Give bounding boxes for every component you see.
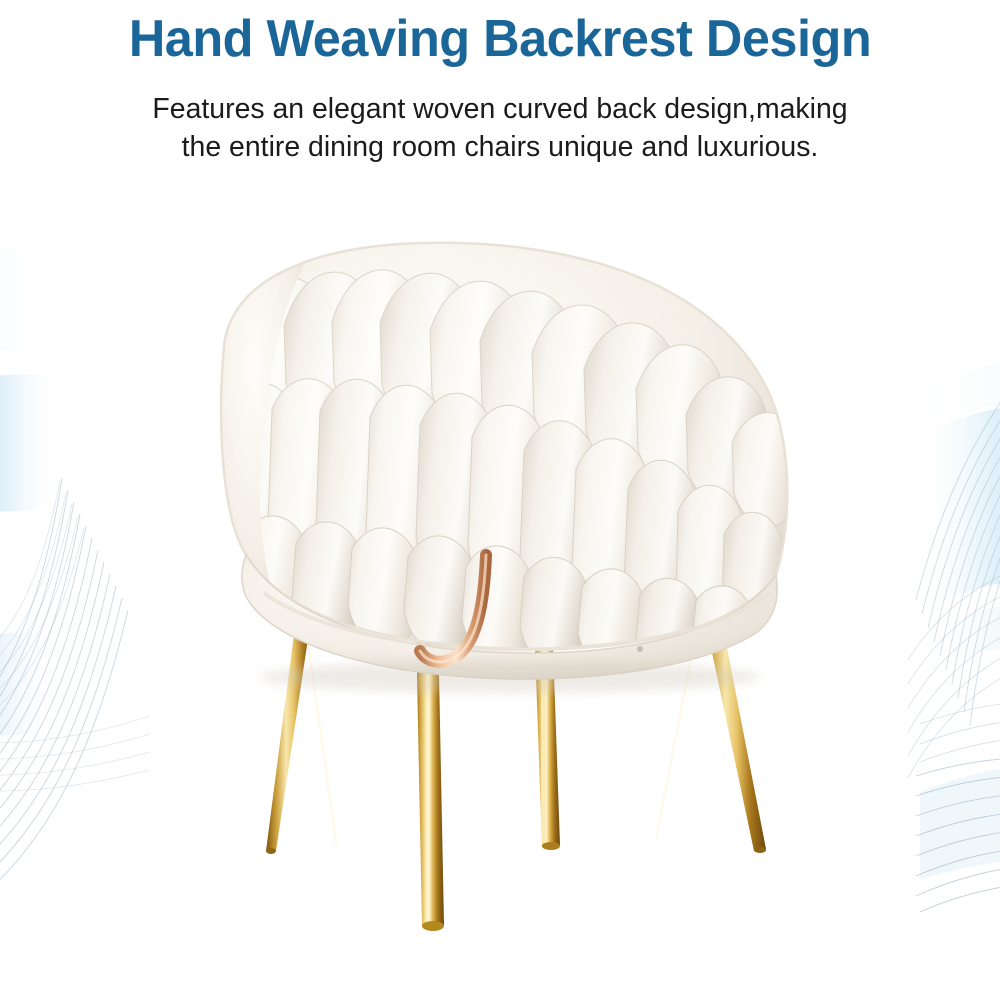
product-feature-banner: Hand Weaving Backrest Design Features an… [0,0,1000,1000]
product-image-woven-dining-chair [180,225,820,945]
page-title: Hand Weaving Backrest Design [15,8,985,70]
chair-leg-front-right [534,617,560,847]
subtitle-line-1: Features an elegant woven curved back de… [79,90,922,128]
subtitle-line-2: the entire dining room chairs unique and… [79,128,922,166]
page-subtitle: Features an elegant woven curved back de… [79,90,922,166]
